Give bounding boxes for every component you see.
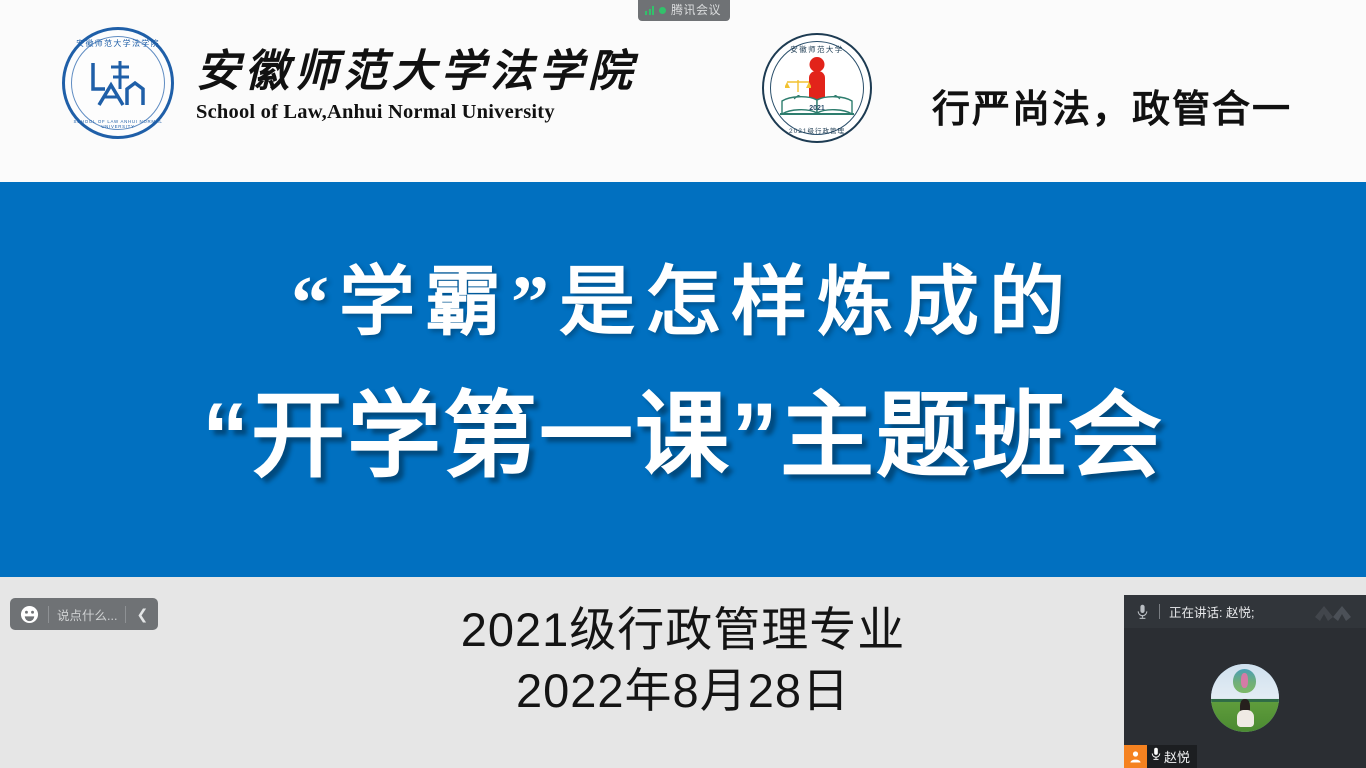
class-motto: 行严尚法，政管合一	[932, 78, 1292, 133]
slide-title-line-2: “开学第一课”主题班会	[0, 360, 1366, 496]
class-badge-figure-head-icon	[810, 57, 825, 72]
tencent-meeting-logo-icon	[1312, 601, 1356, 623]
chat-input-bar[interactable]: 说点什么... ❮	[10, 598, 158, 630]
slide-header: 安徽师范大学法学院 SCHOOL OF LAW ANHUI NORMAL UNI…	[0, 0, 1366, 182]
chat-divider	[48, 606, 49, 623]
microphone-icon	[1151, 747, 1161, 766]
smiley-icon[interactable]	[16, 601, 42, 627]
wordmark-chinese: 安徽师范大学法学院	[196, 46, 546, 98]
participant-video-tile[interactable]: 赵悦	[1124, 631, 1366, 768]
microphone-icon	[1134, 602, 1150, 622]
emblem-arc-chinese: 安徽师范大学法学院	[62, 38, 174, 49]
participant-name-pill: 赵悦	[1147, 745, 1197, 768]
emblem-monogram-icon	[89, 59, 147, 109]
class-badge-icon: 安徽师范大学 2021 2021级行政管理	[762, 33, 872, 143]
scales-of-justice-icon	[785, 78, 811, 94]
chat-divider-2	[125, 606, 126, 623]
law-school-emblem-icon: 安徽师范大学法学院 SCHOOL OF LAW ANHUI NORMAL UNI…	[62, 27, 174, 139]
speaking-bar-divider	[1159, 604, 1160, 619]
speaking-status-bar: 正在讲话: 赵悦;	[1124, 595, 1366, 628]
signal-strength-icon	[645, 6, 654, 15]
speaking-now-label: 正在讲话: 赵悦;	[1169, 602, 1254, 621]
class-badge-year: 2021	[762, 105, 872, 112]
emblem-arc-english: SCHOOL OF LAW ANHUI NORMAL UNIVERSITY	[62, 119, 174, 129]
slide-title-band: “学霸”是怎样炼成的 “开学第一课”主题班会	[0, 182, 1366, 577]
participant-name-row: 赵悦	[1124, 745, 1197, 768]
recording-status-dot-icon	[659, 7, 666, 14]
host-person-icon	[1124, 745, 1147, 768]
avatar-person-body	[1237, 710, 1254, 728]
class-badge-arc-top: 安徽师范大学	[762, 44, 872, 55]
wordmark-english: School of Law,Anhui Normal University	[196, 101, 546, 124]
slide-title-line-1: “学霸”是怎样炼成的	[0, 240, 1366, 350]
meeting-app-label: 腾讯会议	[671, 0, 721, 21]
avatar	[1211, 663, 1279, 731]
participant-name: 赵悦	[1164, 747, 1190, 766]
law-school-wordmark: 安徽师范大学法学院 School of Law,Anhui Normal Uni…	[196, 46, 546, 124]
chevron-left-icon[interactable]: ❮	[132, 601, 152, 627]
class-badge-arc-bottom: 2021级行政管理	[762, 125, 872, 135]
chat-input-placeholder[interactable]: 说点什么...	[55, 605, 119, 624]
meeting-status-pill[interactable]: 腾讯会议	[638, 0, 730, 21]
video-participant-panel[interactable]: 正在讲话: 赵悦;	[1124, 595, 1366, 768]
